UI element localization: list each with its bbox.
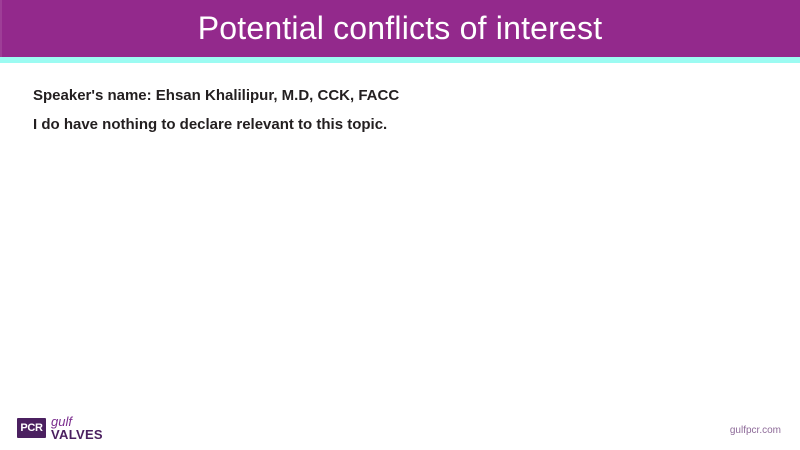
logo-wordmark: gulf VALVES [51, 415, 103, 442]
footer-website-url: gulfpcr.com [730, 425, 781, 436]
gulf-pcr-valves-logo: PCR gulf VALVES [17, 415, 103, 442]
logo-word-gulf: gulf [51, 415, 103, 428]
speaker-name-line: Speaker's name: Ehsan Khalilipur, M.D, C… [33, 87, 399, 104]
pcr-badge-icon: PCR [17, 418, 46, 438]
slide-footer: PCR gulf VALVES gulfpcr.com [0, 400, 800, 450]
logo-word-valves: VALVES [51, 428, 103, 441]
disclosure-statement-line: I do have nothing to declare relevant to… [33, 116, 387, 133]
pcr-badge-label: PCR [20, 423, 42, 434]
slide-title: Potential conflicts of interest [0, 0, 800, 57]
slide: Potential conflicts of interest Speaker'… [0, 0, 800, 450]
slide-body: Speaker's name: Ehsan Khalilipur, M.D, C… [0, 63, 800, 400]
